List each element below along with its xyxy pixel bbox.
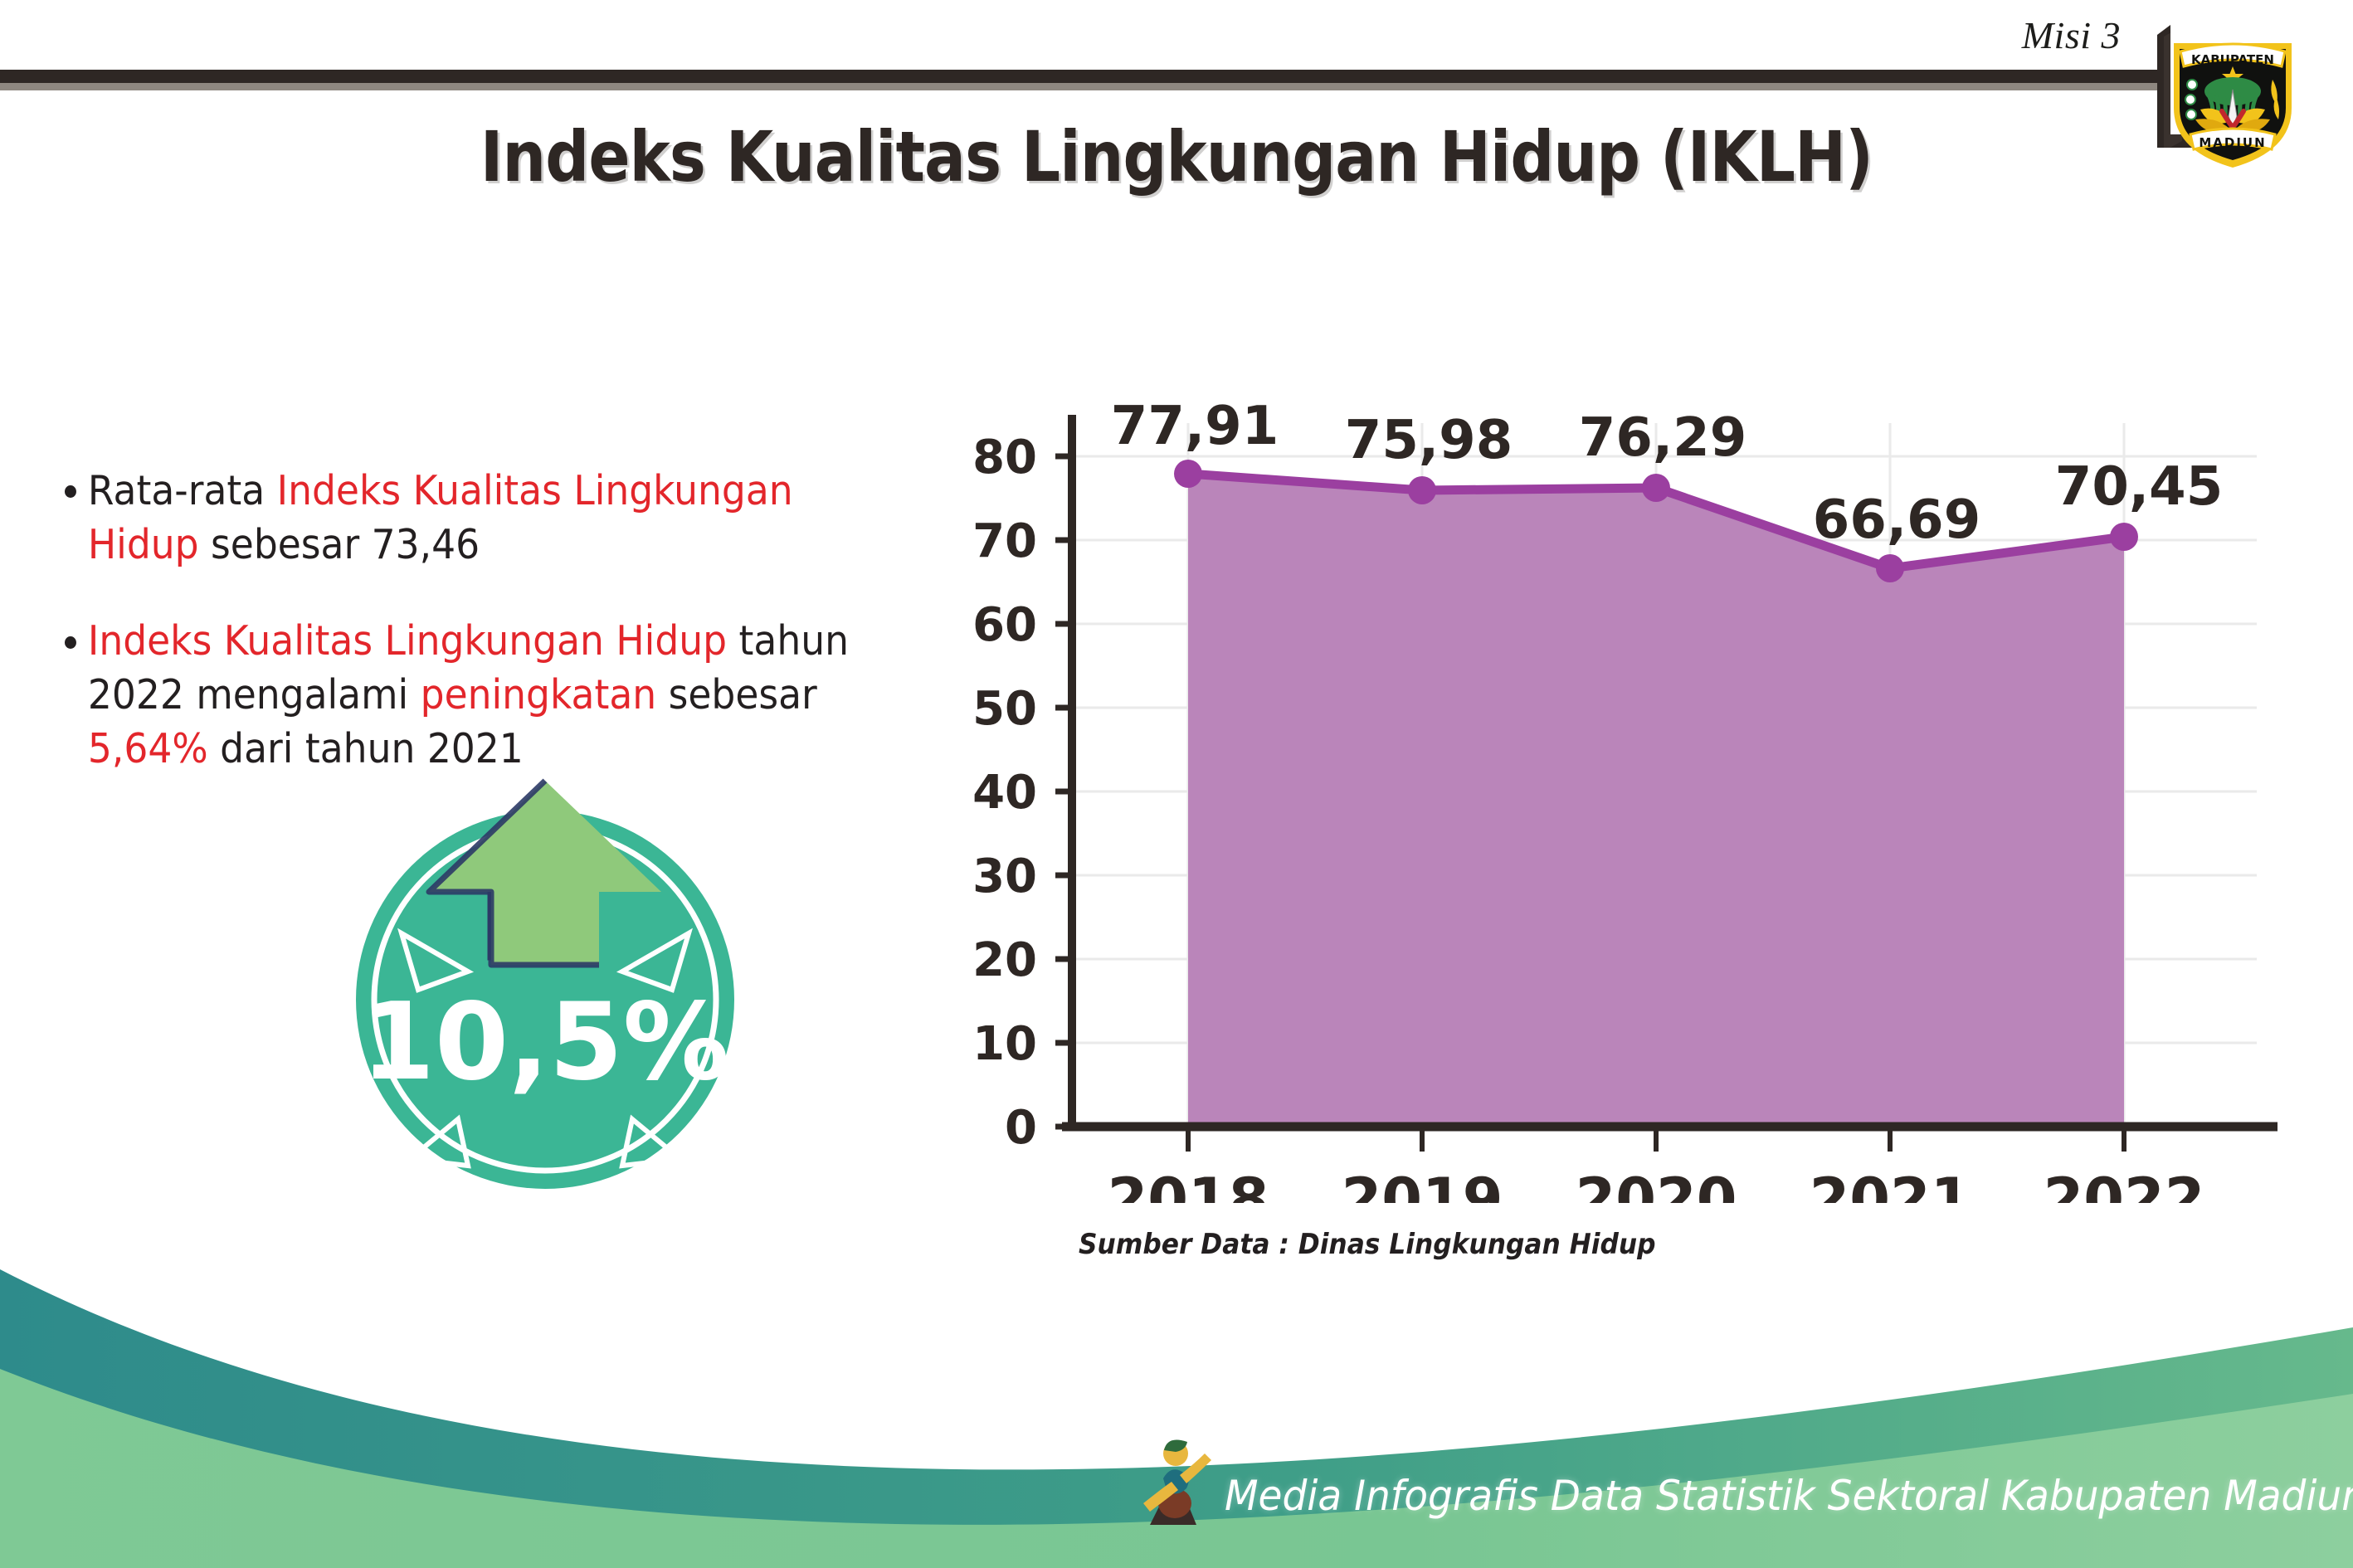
ytick-40: 40 [972,766,1037,820]
datalabel-2019: 75,98 [1345,410,1513,471]
ytick-50: 50 [972,682,1037,736]
highlight-text-block: Rata-rata Indeks Kualitas Lingkungan Hid… [65,465,890,776]
iklh-area-chart: 0 10 20 30 40 50 60 70 80 2018 2019 2020… [954,274,2298,1203]
xtick-2018: 2018 [1108,1166,1269,1203]
xtick-2019: 2019 [1342,1166,1503,1203]
footer-caption: Media Infografis Data Statistik Sektoral… [1225,1472,2353,1520]
bullet-2-segment-3: peningkatan [421,671,657,718]
slide-canvas: Misi 3 KABUPATEN [0,0,2353,1568]
ytick-10: 10 [972,1017,1037,1071]
page-title: Indeks Kualitas Lingkungan Hidup (IKLH) [141,116,2212,197]
ytick-0: 0 [1005,1101,1037,1155]
svg-text:KABUPATEN: KABUPATEN [2191,52,2274,67]
chart-y-tick-labels: 0 10 20 30 40 50 60 70 80 [972,431,1037,1155]
datalabel-2021: 66,69 [1813,489,1980,551]
ytick-70: 70 [972,514,1037,568]
bullet-dot-icon [65,485,76,498]
misi-label: Misi 3 [2022,13,2121,57]
chart-area-fill [1188,474,2124,1127]
datalabel-2020: 76,29 [1579,407,1746,469]
xtick-2020: 2020 [1576,1166,1737,1203]
xtick-2022: 2022 [2044,1166,2205,1203]
chart-x-tick-labels: 2018 2019 2020 2021 2022 [1108,1166,2205,1203]
bullet-1-segment-3: sebesar 73,46 [199,521,480,568]
ytick-20: 20 [972,933,1037,987]
header-rule [0,70,2167,83]
datalabel-2018: 77,91 [1111,396,1279,457]
badge-value: 10,5% [361,981,729,1104]
ytick-60: 60 [972,598,1037,652]
bullet-2-segment-1: Indeks Kualitas Lingkungan Hidup [88,617,727,665]
media-infografis-figure-icon [1138,1427,1215,1533]
ytick-30: 30 [972,850,1037,903]
bullet-1-segment-1: Rata-rata [88,467,277,514]
increase-badge: 10,5% [325,751,765,1199]
chart-source-note: Sumber Data : Dinas Lingkungan Hidup [1079,1228,1656,1261]
datalabel-2022: 70,45 [2055,456,2223,518]
ytick-80: 80 [972,431,1037,485]
bullet-2-segment-4: sebesar [656,671,817,718]
bullet-item-1: Rata-rata Indeks Kualitas Lingkungan Hid… [65,465,890,572]
bullet-dot-icon [65,636,76,649]
bullet-2-segment-5: 5,64% [88,725,208,772]
xtick-2021: 2021 [1810,1166,1971,1203]
